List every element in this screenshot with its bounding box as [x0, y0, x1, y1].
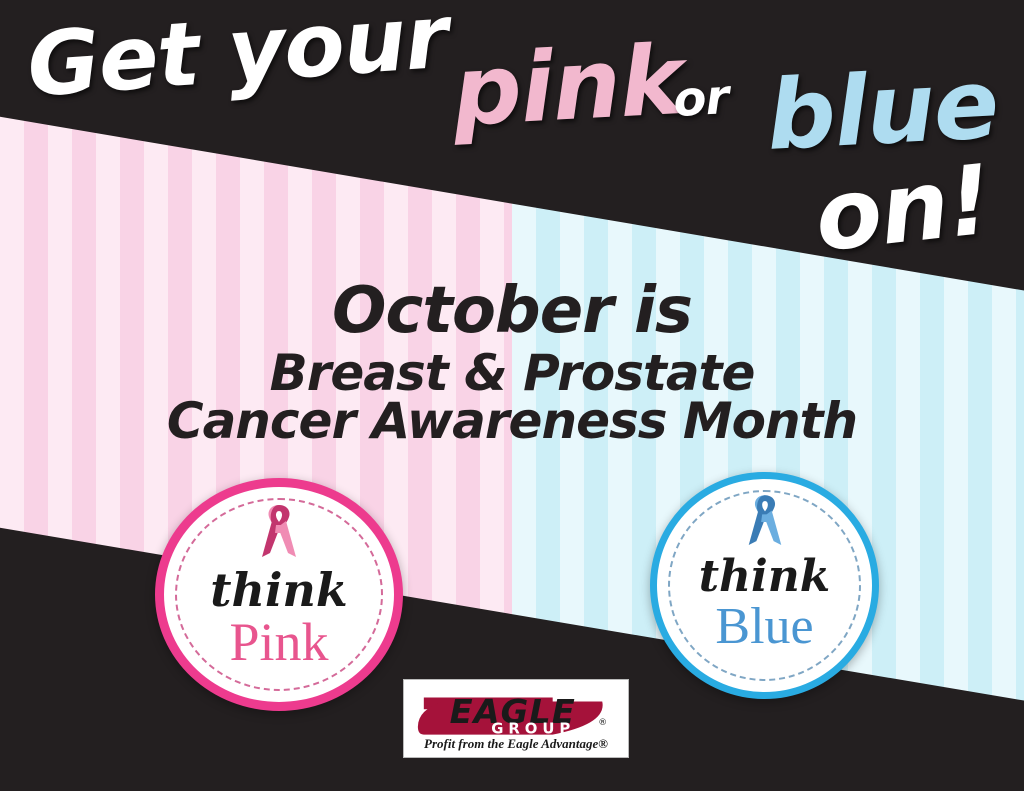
- message-line-cancer-awareness-month: Cancer Awareness Month: [0, 392, 1024, 450]
- think-blue-badge[interactable]: think Blue: [650, 472, 879, 699]
- message-line-october-is: October is: [0, 274, 1024, 348]
- eagle-group-logo[interactable]: EAGLE ® GROUP Profit from the Eagle Adva…: [403, 679, 629, 758]
- eagle-tagline: Profit from the Eagle Advantage®: [404, 736, 628, 752]
- headline-on: on!: [810, 144, 996, 274]
- badge-dashed-ring: [175, 498, 383, 691]
- promotional-poster: Get your pink or blue on! October is Bre…: [0, 0, 1024, 791]
- headline-pink: pink: [450, 24, 685, 148]
- registered-mark: ®: [598, 718, 607, 728]
- badge-dashed-ring: [668, 490, 861, 681]
- headline-or: or: [672, 69, 730, 128]
- think-pink-badge[interactable]: think Pink: [155, 478, 403, 711]
